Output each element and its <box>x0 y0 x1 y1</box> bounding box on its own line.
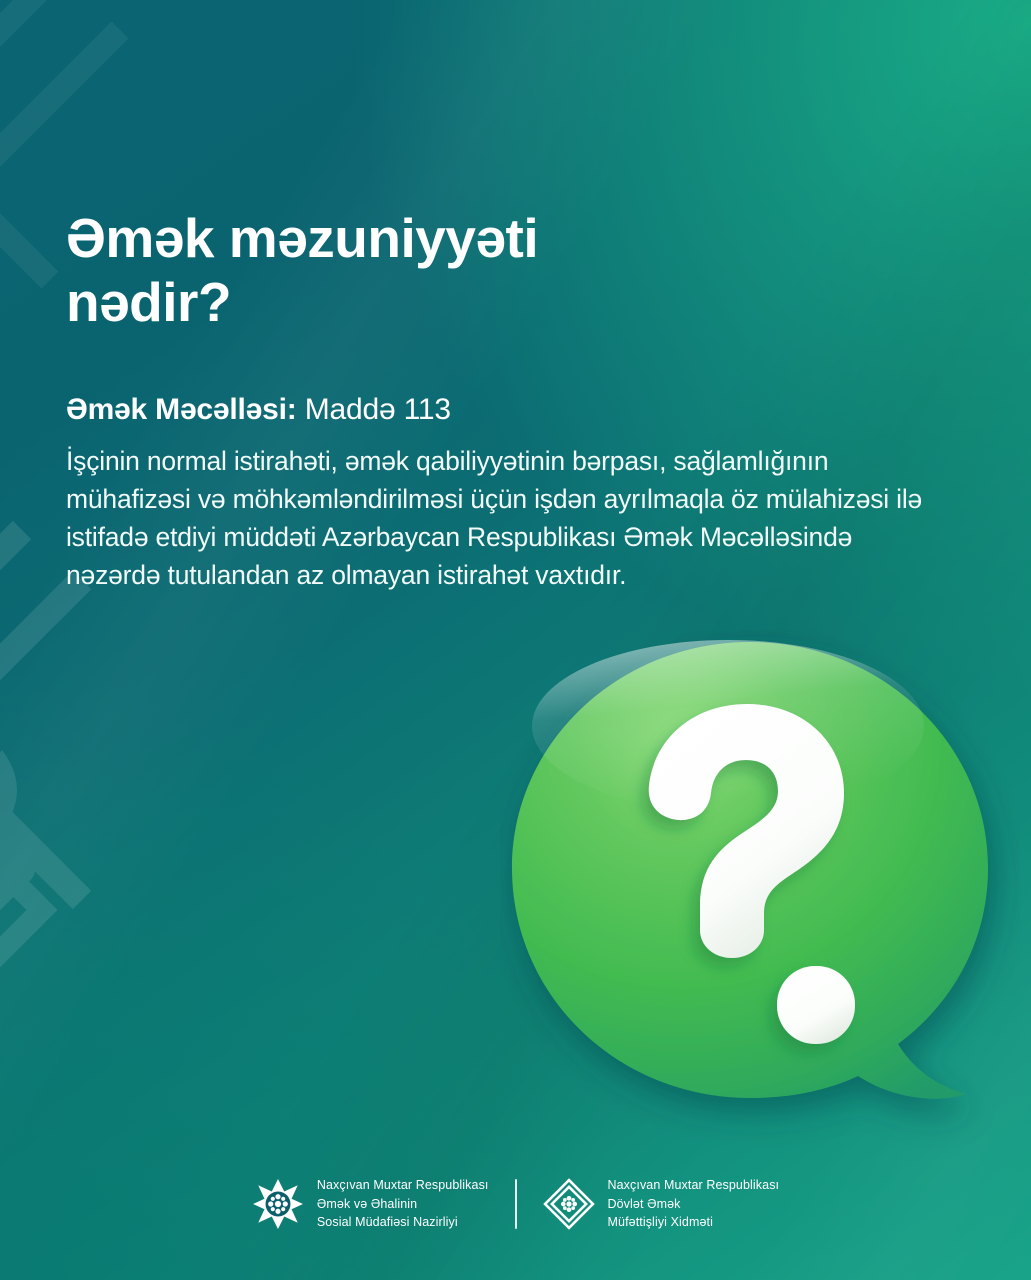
law-article: Maddə 113 <box>305 393 451 426</box>
org-ministry-name: Naxçıvan Muxtar Respublikası Əmək və Əha… <box>317 1176 489 1232</box>
eight-pointed-star-rosette-icon <box>252 1178 304 1230</box>
body-text: İşçinin normal istirahəti, əmək qabiliyy… <box>66 442 946 595</box>
question-mark-speech-bubble-icon <box>500 630 1020 1150</box>
footer-divider <box>515 1179 517 1229</box>
org-ministry-line3: Sosial Müdafiəsi Nazirliyi <box>317 1213 489 1232</box>
content-block: Əmək məzuniyyəti nədir? Əmək Məcəlləsi: … <box>66 207 966 594</box>
org-inspection-line1: Naxçıvan Muxtar Respublikası <box>608 1176 780 1195</box>
org-ministry-line2: Əmək və Əhalinin <box>317 1195 489 1214</box>
org-inspection-service: Naxçıvan Muxtar Respublikası Dövlət Əmək… <box>543 1176 780 1232</box>
footer: Naxçıvan Muxtar Respublikası Əmək və Əha… <box>0 1176 1031 1232</box>
org-ministry: Naxçıvan Muxtar Respublikası Əmək və Əha… <box>252 1176 489 1232</box>
law-reference: Əmək Məcəlləsi: Maddə 113 <box>66 392 966 428</box>
org-inspection-line3: Müfəttişliyi Xidməti <box>608 1213 780 1232</box>
law-label: Əmək Məcəlləsi: <box>66 393 297 426</box>
org-inspection-service-name: Naxçıvan Muxtar Respublikası Dövlət Əmək… <box>608 1176 780 1232</box>
org-ministry-line1: Naxçıvan Muxtar Respublikası <box>317 1176 489 1195</box>
poster: Əmək məzuniyyəti nədir? Əmək Məcəlləsi: … <box>0 0 1031 1280</box>
diamond-rosette-icon <box>543 1178 595 1230</box>
ornament-watermark <box>0 520 192 1140</box>
background-sheen <box>0 0 1031 1280</box>
page-title: Əmək məzuniyyəti nədir? <box>66 207 966 335</box>
org-inspection-line2: Dövlət Əmək <box>608 1195 780 1214</box>
